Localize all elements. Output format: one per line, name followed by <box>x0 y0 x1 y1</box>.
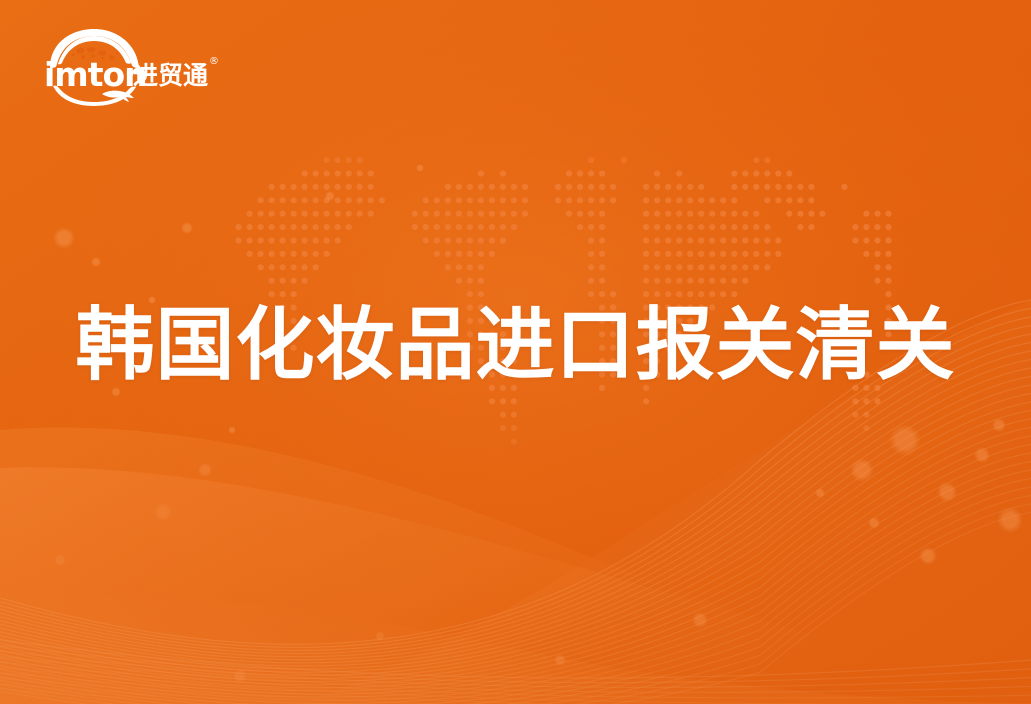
logo-trademark-icon: ® <box>209 56 219 67</box>
page-title: 韩国化妆品进口报关清关 <box>0 306 1031 385</box>
banner-poster: imton 进贸通 ® 韩国化妆品进口报关清关 <box>0 0 1031 704</box>
logo-chinese-name: 进贸通 <box>133 61 208 90</box>
imton-logo[interactable]: imton 进贸通 ® <box>36 24 226 106</box>
